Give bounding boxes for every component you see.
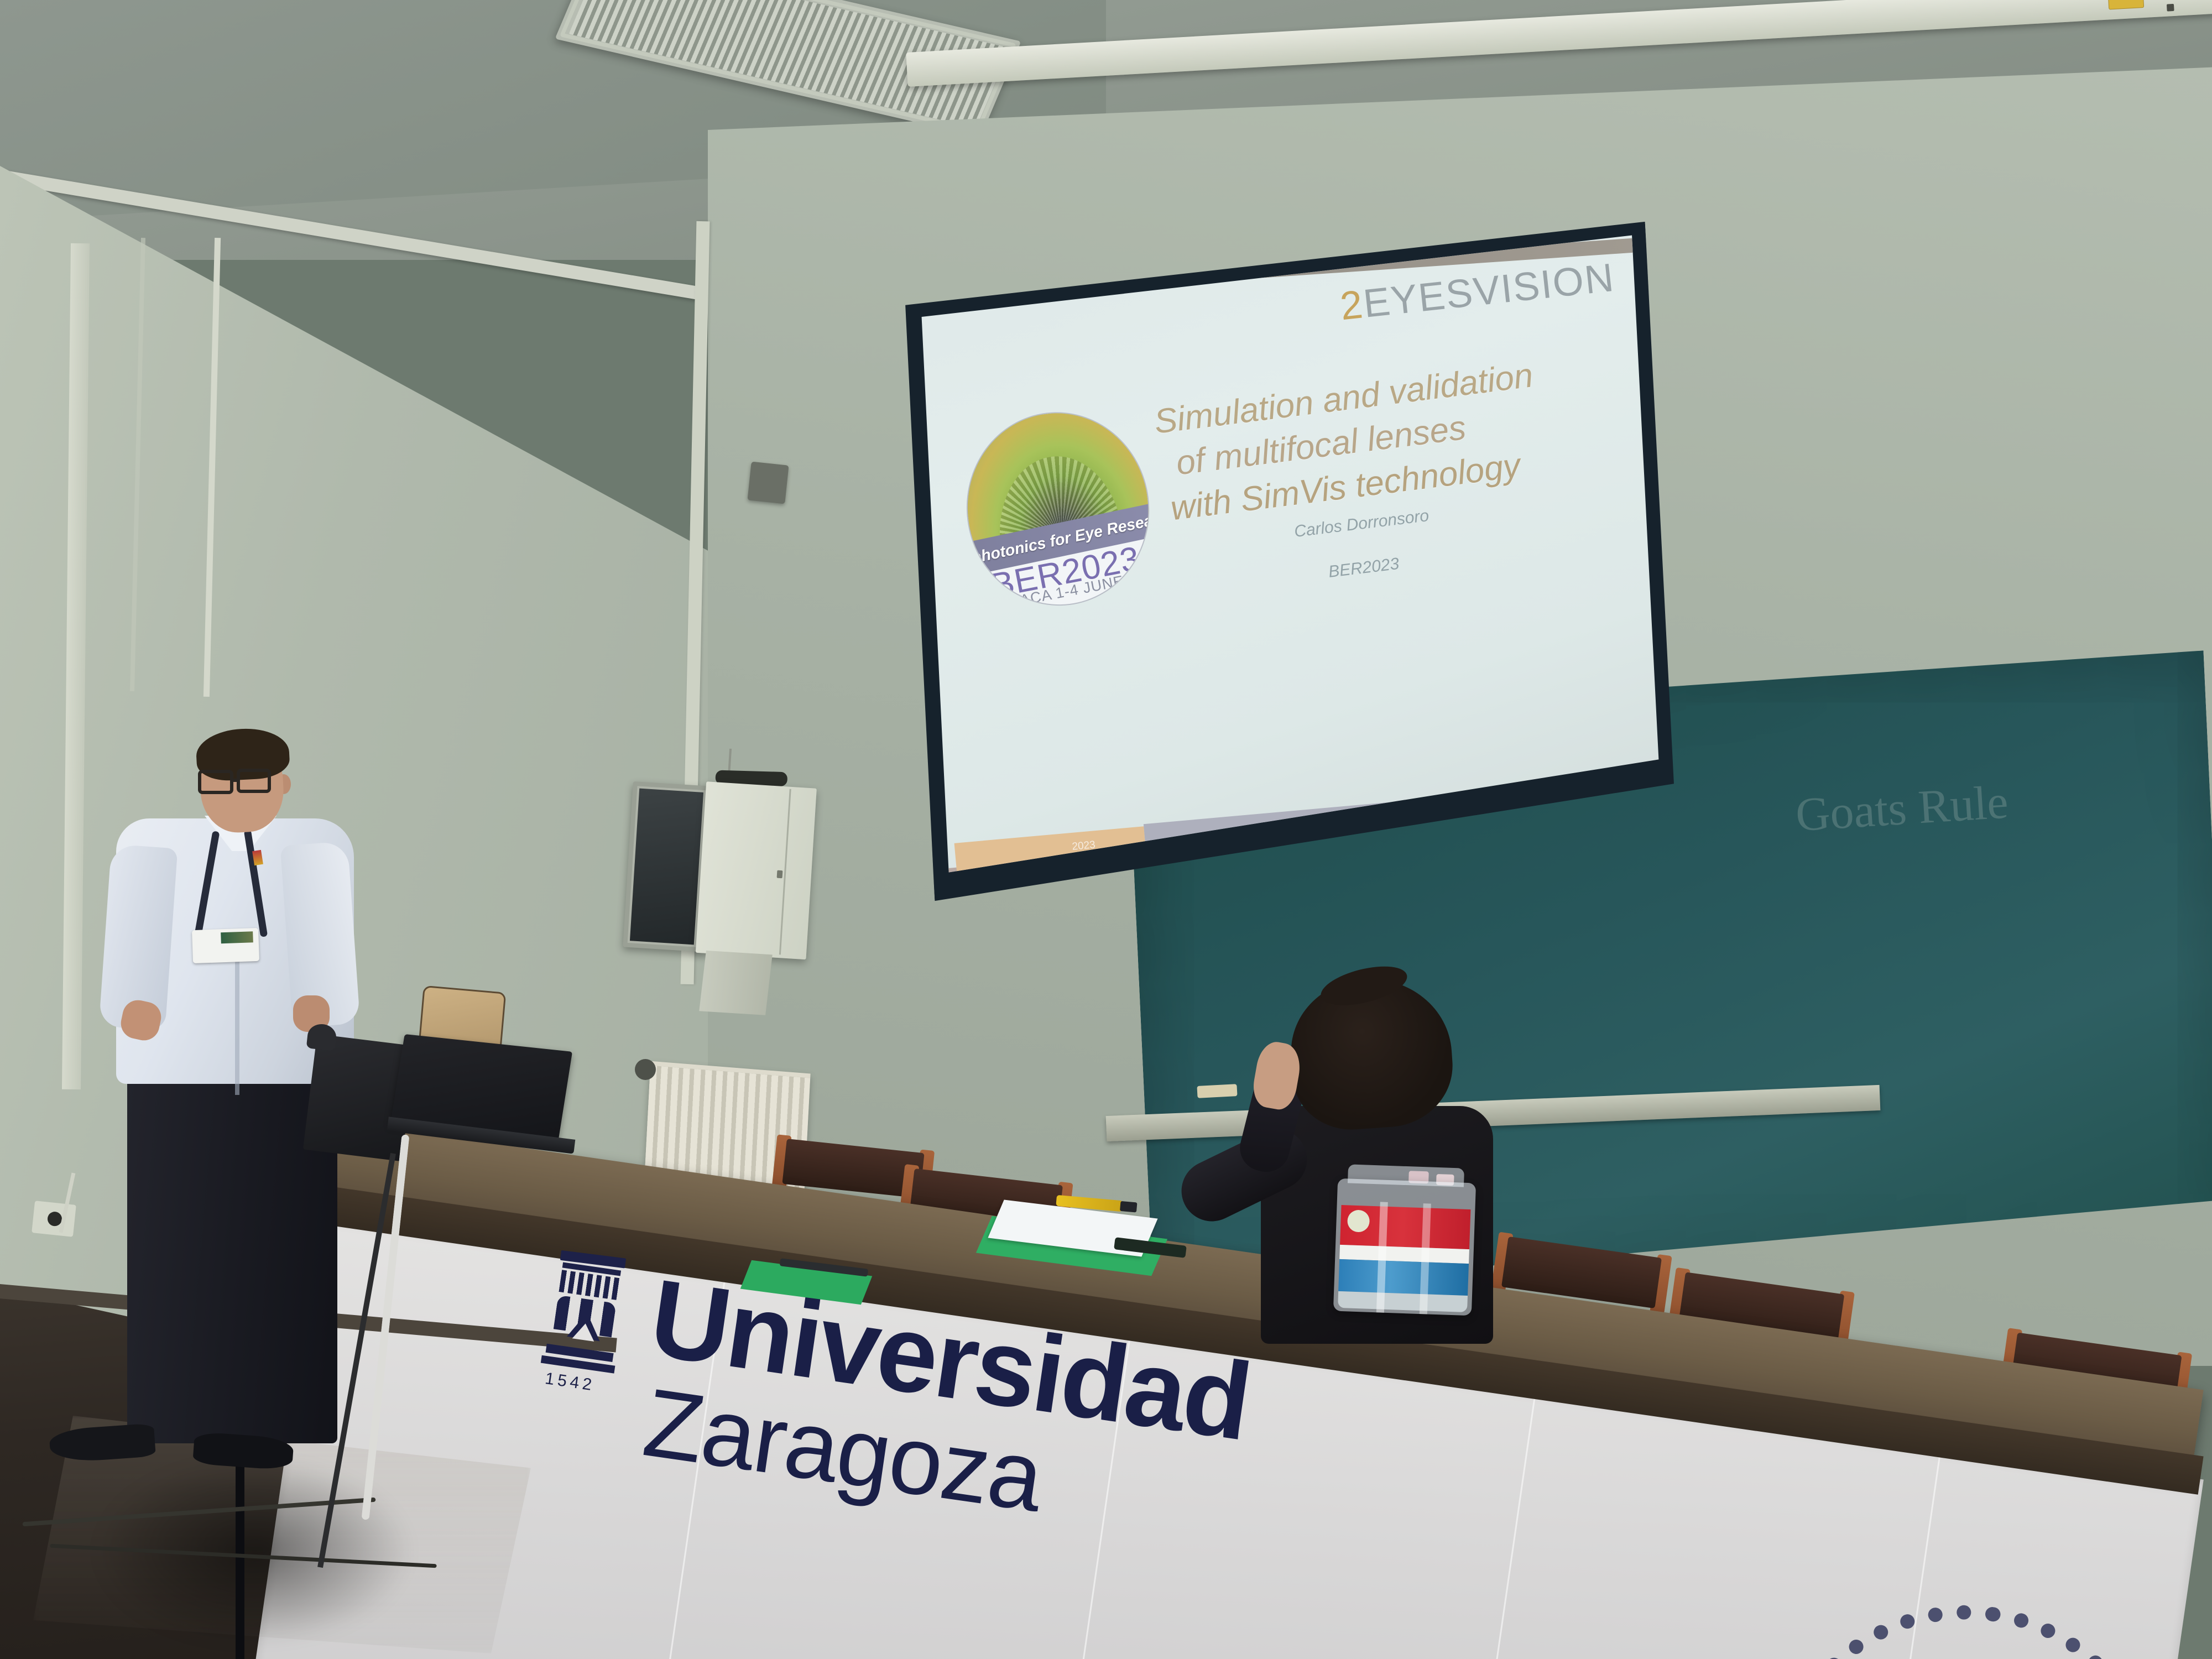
presenter-leg-gap xyxy=(236,1465,244,1659)
cabinet-support-bracket xyxy=(699,951,772,1015)
radiator-valve[interactable] xyxy=(635,1059,656,1080)
cabinet-lock-knob[interactable] xyxy=(777,870,783,879)
glasses-lens-right xyxy=(237,769,271,793)
wall-speaker xyxy=(748,462,789,504)
roller-pull-pin xyxy=(2167,4,2174,12)
slide-title: Simulation and validation of multifocal … xyxy=(1152,345,1613,531)
conference-badge xyxy=(192,928,259,963)
glasses-lens-left xyxy=(198,770,233,794)
bottle-label-red xyxy=(1340,1205,1470,1249)
cabinet-metal-door[interactable] xyxy=(696,781,817,959)
icon-pediment-inner xyxy=(572,1322,597,1342)
ber2023-conference-logo: Biophotonics for Eye Research BER2023 JA… xyxy=(956,402,1160,616)
chalkboard-writing: Goats Rule xyxy=(1794,774,2010,842)
panel-seam xyxy=(1468,1384,1538,1659)
lecture-room-photo: Goats Rule 2EYESVISION Biophotonics for … xyxy=(0,0,2212,1659)
chalk-piece[interactable] xyxy=(1197,1084,1237,1098)
bottle-label-blue xyxy=(1338,1259,1469,1296)
av-equipment-cabinet[interactable] xyxy=(622,777,816,968)
power-outlet[interactable] xyxy=(32,1201,76,1237)
water-bottle-pack[interactable] xyxy=(1333,1178,1476,1316)
roller-brand-label xyxy=(2108,0,2144,10)
glasses-bridge xyxy=(232,779,239,782)
